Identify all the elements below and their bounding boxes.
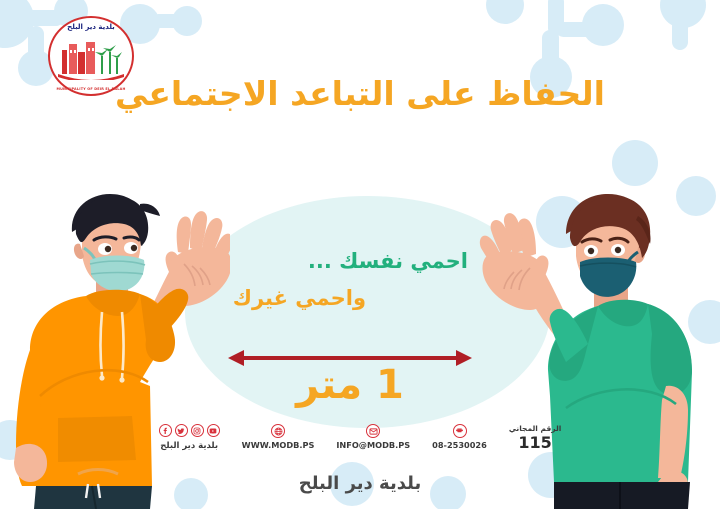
youtube-icon[interactable] <box>207 424 220 437</box>
free-number-label: الرقم المجاني <box>509 424 562 433</box>
slogan-line-2: واحمي غيرك <box>216 286 366 310</box>
contact-website[interactable]: WWW.MODB.PS <box>242 424 315 450</box>
decor-bar <box>556 22 596 37</box>
decor-bar <box>542 30 559 72</box>
decor-dot <box>660 0 706 28</box>
twitter-icon[interactable] <box>175 424 188 437</box>
facebook-icon[interactable] <box>159 424 172 437</box>
page-title: الحفاظ على التباعد الاجتماعي <box>0 74 720 113</box>
slogan-line-1: احمي نفسك ... <box>318 249 468 273</box>
decor-bar <box>28 26 44 60</box>
social-icon-row <box>159 424 220 437</box>
globe-icon <box>271 424 285 438</box>
envelope-icon <box>366 424 380 438</box>
instagram-icon[interactable] <box>191 424 204 437</box>
email-value: INFO@MODB.PS <box>336 440 410 450</box>
social-label: بلدية دير البلح <box>160 441 218 451</box>
phone-icon <box>453 424 467 438</box>
decor-bar <box>152 14 186 28</box>
decor-dot <box>172 6 202 36</box>
distance-label: 1 متر <box>280 362 420 408</box>
arrow-head-right-icon <box>456 350 472 366</box>
contact-email[interactable]: INFO@MODB.PS <box>336 424 410 450</box>
decor-dot <box>582 4 624 46</box>
decor-dot <box>486 0 524 24</box>
logo-arabic-text: بلدية دير البلح <box>48 23 134 31</box>
arrow-line <box>240 356 460 360</box>
decor-dot <box>0 0 34 48</box>
website-value: WWW.MODB.PS <box>242 440 315 450</box>
social-distancing-poster: بلدية دير البلح MUNICIPALITY OF DEIR EL … <box>0 0 720 509</box>
footer-contact-strip: الرقم المجاني 115 08-2530026 INFO@MODB.P… <box>0 424 720 466</box>
phone-value: 08-2530026 <box>432 440 487 450</box>
decor-bar <box>672 18 688 50</box>
municipality-name: بلدية دير البلح <box>0 473 720 494</box>
social-links: بلدية دير البلح <box>159 424 220 451</box>
decor-bar <box>548 0 564 36</box>
free-number-value: 115 <box>518 435 551 451</box>
contact-phone[interactable]: 08-2530026 <box>432 424 487 450</box>
contact-free-number: الرقم المجاني 115 <box>509 424 562 451</box>
decor-dot <box>612 140 658 186</box>
